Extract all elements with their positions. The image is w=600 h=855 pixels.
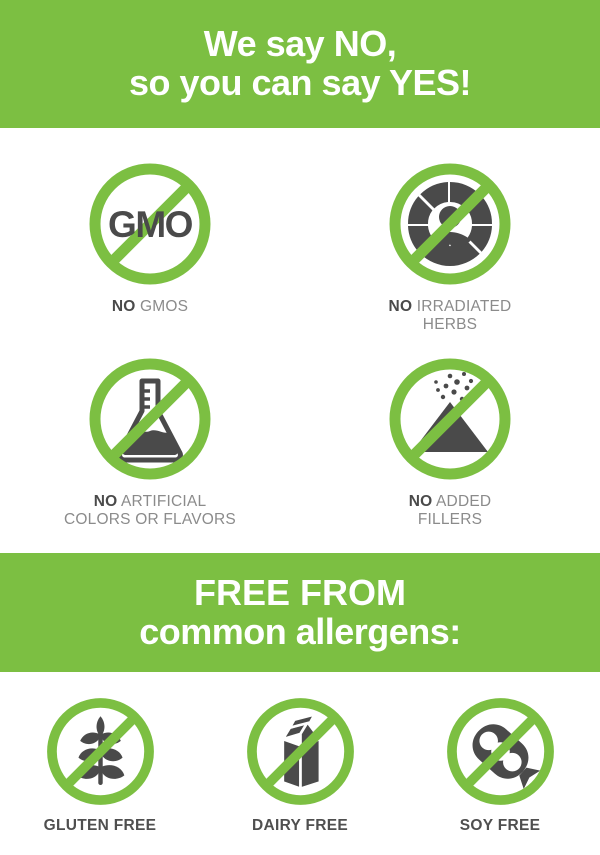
caption-prefix: NO [94,493,118,510]
caption-line-2: HERBS [389,316,512,334]
no-item-gmos: GMO NO GMOS [0,150,300,345]
no-artificial-colors-flask-icon [86,355,214,483]
no-gmo-icon: GMO [86,160,214,288]
caption-line-1: IRRADIATED [417,298,512,315]
no-irradiated-herbs-icon [386,160,514,288]
dairy-free-milk-carton-icon [244,695,357,808]
no-item-gmos-caption: NO GMOS [112,298,188,316]
allergen-banner-line-2: common allergens: [139,613,461,652]
no-item-irradiated-herbs: NO IRRADIATED HERBS [300,150,600,345]
no-added-fillers-icon [386,355,514,483]
caption-prefix: NO [389,298,413,315]
allergen-banner-line-1: FREE FROM [194,574,406,613]
gluten-free-wheat-icon [44,695,157,808]
soy-free-soybean-icon [444,695,557,808]
allergen-banner: FREE FROM common allergens: [0,553,600,672]
allergen-item-gluten-free: GLUTEN FREE [0,695,200,855]
no-item-added-fillers: NO ADDED FILLERS [300,345,600,540]
allergen-item-dairy-free-label: DAIRY FREE [252,817,348,835]
allergen-item-dairy-free: DAIRY FREE [200,695,400,855]
caption-line-1: ADDED [436,493,491,510]
allergen-item-soy-free-label: SOY FREE [460,817,541,835]
allergen-item-soy-free: SOY FREE [400,695,600,855]
header-banner-line-1: We say NO, [204,25,396,64]
no-items-grid: GMO NO GMOS [0,150,600,540]
caption-line-2: COLORS OR FLAVORS [64,511,236,529]
allergen-items-grid: GLUTEN FREE [0,695,600,855]
no-item-artificial-colors-caption: NO ARTIFICIAL COLORS OR FLAVORS [64,493,236,529]
infographic-page: We say NO, so you can say YES! GMO NO GM… [0,0,600,855]
no-item-added-fillers-caption: NO ADDED FILLERS [409,493,492,529]
no-item-irradiated-herbs-caption: NO IRRADIATED HERBS [389,298,512,334]
header-banner: We say NO, so you can say YES! [0,0,600,128]
caption-line-1: GMOS [140,298,188,315]
caption-line-1: ARTIFICIAL [121,493,206,510]
caption-prefix: NO [409,493,433,510]
caption-prefix: NO [112,298,136,315]
header-banner-line-2: so you can say YES! [129,64,471,103]
no-item-artificial-colors: NO ARTIFICIAL COLORS OR FLAVORS [0,345,300,540]
caption-line-2: FILLERS [409,511,492,529]
allergen-item-gluten-free-label: GLUTEN FREE [44,817,157,835]
